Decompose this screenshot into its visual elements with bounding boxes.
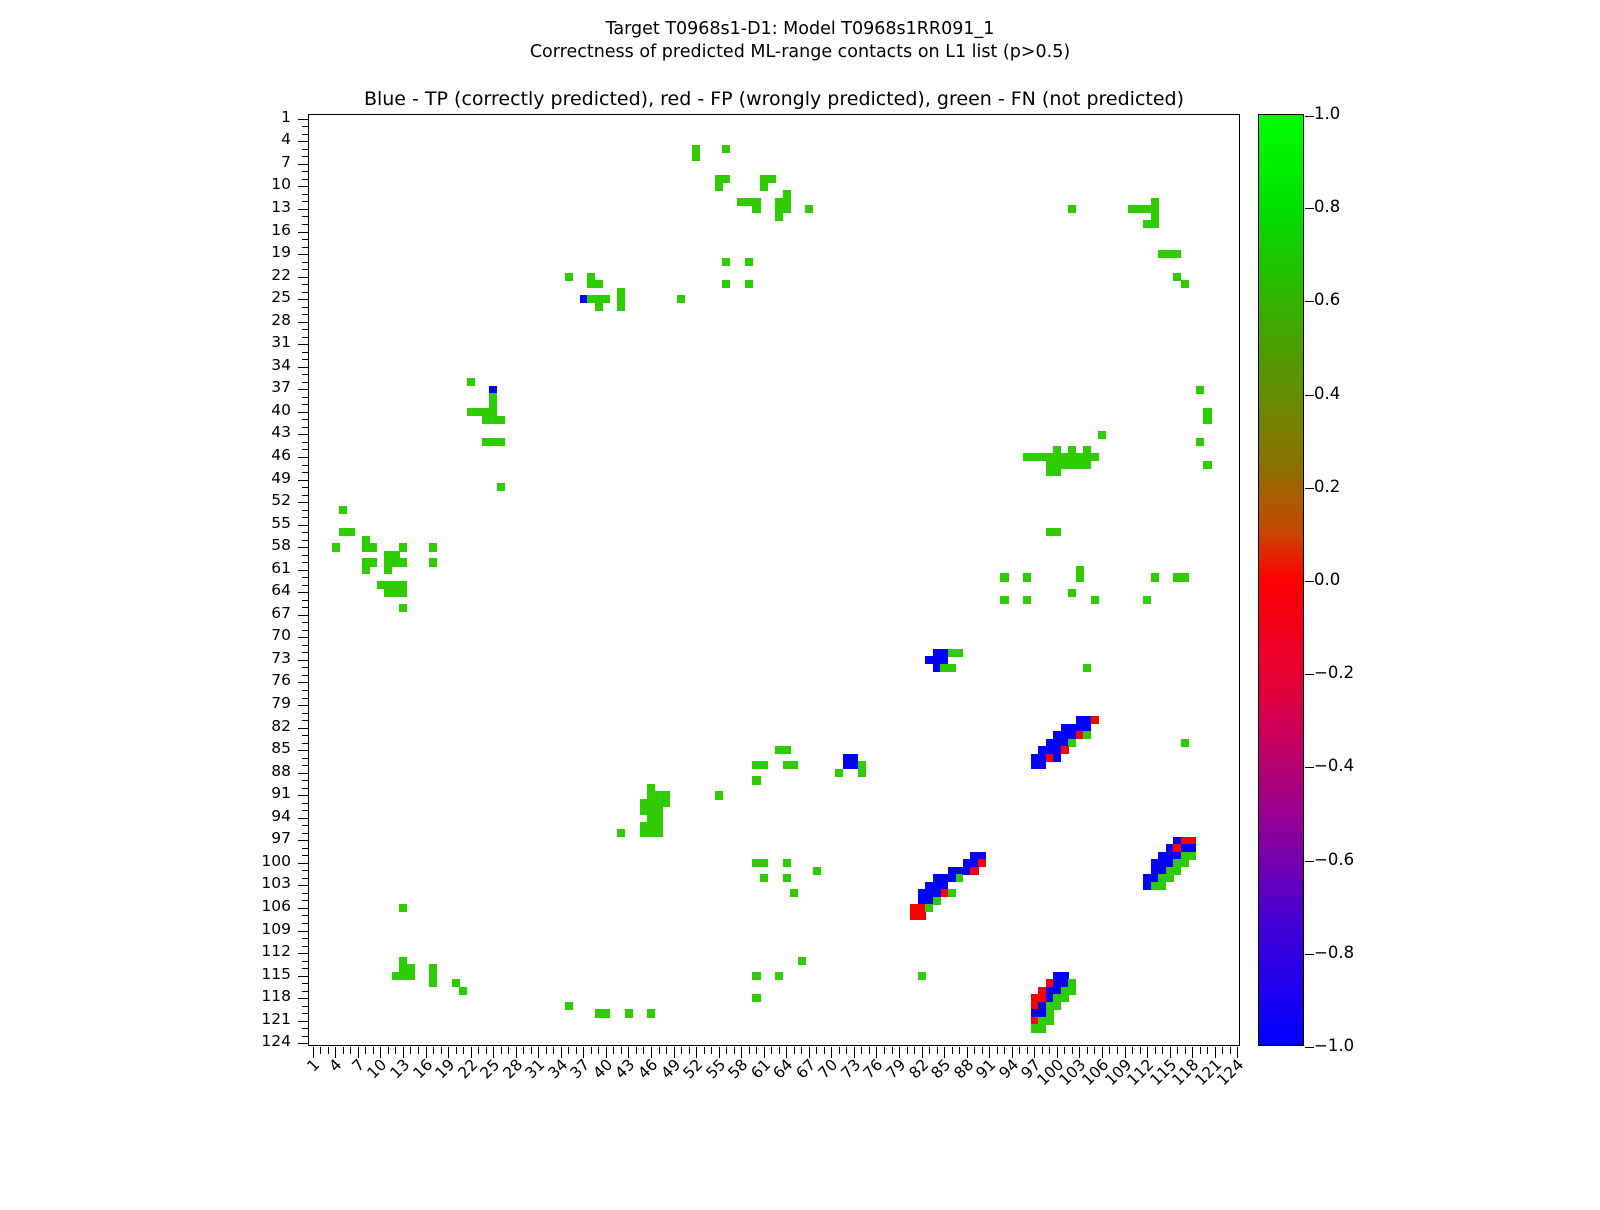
contact-cell-fn: [1143, 220, 1151, 228]
colorbar-label: 0.8: [1314, 199, 1340, 216]
x-axis-tick: [410, 1047, 411, 1054]
colorbar-tick: [1305, 954, 1314, 955]
colorbar-tick: [1305, 674, 1314, 675]
y-axis-tick: [302, 577, 309, 578]
x-axis-tick: [1079, 1047, 1080, 1058]
y-axis-label: 10: [271, 177, 291, 193]
y-axis-tick: [302, 938, 309, 939]
contact-cell-fn: [595, 280, 603, 288]
y-axis-label: 82: [271, 719, 291, 735]
y-axis-label: 79: [271, 696, 291, 712]
x-axis-tick: [388, 1047, 389, 1054]
x-axis-tick: [531, 1047, 532, 1054]
contact-cell-fn: [647, 1009, 655, 1017]
contact-cell-fn: [745, 258, 753, 266]
contact-cell-fn: [1151, 573, 1159, 581]
x-axis-tick: [1057, 1047, 1058, 1058]
x-axis-tick: [478, 1047, 479, 1054]
y-axis-tick: [298, 660, 309, 661]
x-axis-tick: [952, 1047, 953, 1054]
x-axis-tick: [508, 1047, 509, 1054]
y-axis-tick: [298, 750, 309, 751]
colorbar-label: −1.0: [1314, 1038, 1354, 1055]
x-axis-tick: [418, 1047, 419, 1054]
contact-cell-fn: [783, 859, 791, 867]
y-axis-label: 109: [261, 922, 291, 938]
x-axis-tick: [734, 1047, 735, 1054]
x-axis-tick: [448, 1047, 449, 1058]
contact-cell-fn: [467, 378, 475, 386]
contact-cell-fn: [1091, 596, 1099, 604]
contact-cell-fn: [955, 874, 963, 882]
contact-cell-fn: [775, 972, 783, 980]
contact-cell-fn: [1151, 220, 1159, 228]
y-axis-tick: [302, 239, 309, 240]
contact-cell-fn: [1158, 882, 1166, 890]
contact-cell-fn: [1181, 859, 1189, 867]
colorbar-tick: [1305, 208, 1314, 209]
y-axis-tick: [298, 728, 309, 729]
x-axis-tick: [1185, 1047, 1186, 1054]
y-axis-tick: [302, 179, 309, 180]
x-axis-tick: [493, 1047, 494, 1058]
x-axis-tick: [1027, 1047, 1028, 1054]
x-axis-tick: [456, 1047, 457, 1054]
contact-cell-fn: [429, 979, 437, 987]
y-axis-label: 31: [271, 335, 291, 351]
contact-cell-tp: [1053, 754, 1061, 762]
x-axis-tick: [1094, 1047, 1095, 1054]
x-axis-tick: [1072, 1047, 1073, 1054]
contact-cell-fn: [783, 205, 791, 213]
y-axis-tick: [298, 299, 309, 300]
y-axis-label: 97: [271, 831, 291, 847]
y-axis-tick: [298, 367, 309, 368]
contact-map-plot[interactable]: [308, 114, 1240, 1046]
x-axis-tick: [869, 1047, 870, 1054]
x-axis-tick: [501, 1047, 502, 1054]
x-axis-tick: [613, 1047, 614, 1054]
contact-cell-fn: [752, 972, 760, 980]
contact-cell-fp: [918, 912, 926, 920]
y-axis-tick: [298, 277, 309, 278]
contact-cell-fn: [347, 528, 355, 536]
x-axis-tick: [749, 1047, 750, 1054]
x-axis-tick: [373, 1047, 374, 1054]
y-axis-tick: [302, 247, 309, 248]
y-axis-tick: [298, 502, 309, 503]
y-axis-tick: [298, 908, 309, 909]
y-axis-tick: [302, 374, 309, 375]
x-axis-tick: [463, 1047, 464, 1054]
colorbar-tick: [1305, 581, 1314, 582]
x-axis-tick: [1049, 1047, 1050, 1054]
x-axis-tick: [1222, 1047, 1223, 1054]
y-axis-tick: [302, 803, 309, 804]
x-axis-tick: [1087, 1047, 1088, 1054]
y-axis-label: 4: [281, 132, 291, 148]
contact-cell-fn: [1083, 731, 1091, 739]
colorbar-label: −0.8: [1314, 945, 1354, 962]
contact-cell-fn: [407, 972, 415, 980]
contact-cell-fn: [715, 183, 723, 191]
colorbar-label: 1.0: [1314, 106, 1340, 123]
y-axis-tick: [298, 164, 309, 165]
contact-cell-fn: [955, 649, 963, 657]
contact-cell-fn: [948, 664, 956, 672]
x-axis-tick: [801, 1047, 802, 1054]
y-axis-tick: [298, 773, 309, 774]
contact-cell-fn: [399, 558, 407, 566]
y-axis-tick: [302, 329, 309, 330]
x-axis-tick: [365, 1047, 366, 1054]
y-axis-tick: [302, 495, 309, 496]
contact-cell-fn: [1083, 461, 1091, 469]
y-axis-tick: [302, 690, 309, 691]
contact-cell-fp: [970, 867, 978, 875]
contact-cell-fn: [369, 558, 377, 566]
colorbar-gradient: [1258, 114, 1304, 1046]
x-axis-tick: [358, 1047, 359, 1058]
x-axis-tick: [989, 1047, 990, 1058]
y-axis-label: 52: [271, 493, 291, 509]
contact-cell-fn: [752, 776, 760, 784]
x-axis-tick: [771, 1047, 772, 1054]
x-axis-tick: [711, 1047, 712, 1054]
x-axis-tick: [380, 1047, 381, 1058]
x-axis-tick: [696, 1047, 697, 1058]
colorbar-label: −0.6: [1314, 852, 1354, 869]
y-axis-tick: [298, 141, 309, 142]
x-axis-tick: [1004, 1047, 1005, 1054]
x-axis-tick: [1102, 1047, 1103, 1058]
contact-cell-fn: [783, 190, 791, 198]
x-axis-tick: [929, 1047, 930, 1054]
y-axis-tick: [302, 645, 309, 646]
contact-cell-fn: [1098, 431, 1106, 439]
y-axis-label: 61: [271, 561, 291, 577]
x-axis-tick: [786, 1047, 787, 1058]
y-axis-tick: [302, 607, 309, 608]
y-axis-tick: [302, 698, 309, 699]
x-axis-tick: [516, 1047, 517, 1058]
x-axis-tick: [659, 1047, 660, 1054]
x-axis-tick: [764, 1047, 765, 1058]
y-axis-tick: [302, 743, 309, 744]
contact-cell-fn: [722, 258, 730, 266]
x-axis-tick: [809, 1047, 810, 1058]
x-axis-tick: [486, 1047, 487, 1054]
contact-cell-fn: [1091, 453, 1099, 461]
x-axis-tick: [1012, 1047, 1013, 1058]
y-axis-label: 13: [271, 200, 291, 216]
contact-cell-fn: [767, 175, 775, 183]
contact-cell-fn: [1068, 446, 1076, 454]
y-axis-tick: [302, 788, 309, 789]
contact-cell-fn: [369, 543, 377, 551]
x-axis-tick: [538, 1047, 539, 1058]
x-axis-tick: [839, 1047, 840, 1054]
y-axis-label: 115: [261, 967, 291, 983]
y-axis-label: 85: [271, 741, 291, 757]
y-axis-tick: [302, 352, 309, 353]
y-axis-tick: [302, 1028, 309, 1029]
x-axis-tick: [651, 1047, 652, 1058]
contact-cell-fn: [459, 987, 467, 995]
contact-cell-fn: [835, 769, 843, 777]
y-axis-tick: [302, 878, 309, 879]
contact-cell-fn: [783, 746, 791, 754]
x-axis-tick: [636, 1047, 637, 1054]
y-axis-label: 103: [261, 876, 291, 892]
y-axis-tick: [302, 427, 309, 428]
x-axis-tick: [1117, 1047, 1118, 1054]
x-axis-tick: [426, 1047, 427, 1058]
contact-cell-fn: [429, 543, 437, 551]
y-axis-tick: [302, 652, 309, 653]
contact-cell-tp: [948, 874, 956, 882]
contact-cell-fn: [565, 273, 573, 281]
colorbar-label: 0.0: [1314, 572, 1340, 589]
y-axis-label: 76: [271, 673, 291, 689]
y-axis-tick: [298, 976, 309, 977]
x-axis-tick: [831, 1047, 832, 1058]
figure-title-line-1: Target T0968s1-D1: Model T0968s1RR091_1: [0, 18, 1600, 41]
contact-cell-fn: [722, 175, 730, 183]
x-axis-tick: [884, 1047, 885, 1054]
x-axis-tick: [1162, 1047, 1163, 1054]
contact-cell-fn: [1000, 573, 1008, 581]
x-axis-tick: [704, 1047, 705, 1054]
y-axis-tick: [302, 337, 309, 338]
contact-cell-fn: [805, 205, 813, 213]
y-axis-tick: [302, 284, 309, 285]
y-axis-tick: [298, 795, 309, 796]
y-axis-tick: [302, 923, 309, 924]
contact-cell-fn: [858, 769, 866, 777]
contact-cell-fp: [978, 859, 986, 867]
y-axis-label: 16: [271, 223, 291, 239]
colorbar-tick: [1305, 488, 1314, 489]
y-axis-tick: [302, 397, 309, 398]
y-axis-label: 118: [261, 989, 291, 1005]
y-axis-label: 100: [261, 854, 291, 870]
y-axis-tick: [302, 562, 309, 563]
contact-cell-fn: [1068, 739, 1076, 747]
x-axis-tick: [1207, 1047, 1208, 1054]
contact-cell-fn: [497, 416, 505, 424]
contact-cell-fn: [925, 904, 933, 912]
x-axis-tick: [741, 1047, 742, 1058]
x-axis-tick: [1147, 1047, 1148, 1058]
y-axis-tick: [302, 216, 309, 217]
colorbar-label: 0.6: [1314, 292, 1340, 309]
y-axis-tick: [302, 269, 309, 270]
x-axis-tick: [681, 1047, 682, 1054]
contact-cell-fn: [1023, 596, 1031, 604]
y-axis-tick: [298, 434, 309, 435]
y-axis-tick: [298, 209, 309, 210]
y-axis-tick: [298, 885, 309, 886]
contact-cell-fn: [399, 589, 407, 597]
x-axis-tick: [621, 1047, 622, 1054]
y-axis-tick: [302, 224, 309, 225]
x-axis-tick: [1064, 1047, 1065, 1054]
x-axis-tick: [914, 1047, 915, 1054]
y-axis-tick: [302, 465, 309, 466]
y-axis-tick: [298, 344, 309, 345]
contact-cell-fn: [933, 897, 941, 905]
y-axis-tick: [302, 442, 309, 443]
y-axis-tick: [298, 615, 309, 616]
y-axis-tick: [302, 825, 309, 826]
x-axis-tick: [546, 1047, 547, 1054]
y-axis-tick: [302, 126, 309, 127]
y-axis-tick: [302, 893, 309, 894]
contact-cell-fn: [722, 280, 730, 288]
contact-cell-fn: [760, 761, 768, 769]
y-axis-tick: [302, 1006, 309, 1007]
figure-title: Target T0968s1-D1: Model T0968s1RR091_1 …: [0, 18, 1600, 64]
contact-cell-fn: [1038, 1024, 1046, 1032]
contact-cell-fn: [332, 543, 340, 551]
x-axis-tick: [628, 1047, 629, 1058]
y-axis-label: 106: [261, 899, 291, 915]
contact-cell-fn: [775, 213, 783, 221]
y-axis-tick: [298, 637, 309, 638]
y-axis-tick: [302, 900, 309, 901]
y-axis-label: 49: [271, 471, 291, 487]
x-axis-tick: [1192, 1047, 1193, 1058]
contact-cell-fn: [1076, 573, 1084, 581]
contact-cell-fn: [1053, 468, 1061, 476]
y-axis-tick: [298, 592, 309, 593]
y-axis-tick: [298, 119, 309, 120]
x-axis-tick: [643, 1047, 644, 1054]
contact-cell-fn: [790, 761, 798, 769]
y-axis-tick: [302, 765, 309, 766]
contact-cell-fn: [1181, 573, 1189, 581]
x-axis-tick: [553, 1047, 554, 1054]
colorbar-label: −0.2: [1314, 665, 1354, 682]
y-axis-tick: [302, 810, 309, 811]
y-axis-tick: [302, 855, 309, 856]
figure-canvas: Target T0968s1-D1: Model T0968s1RR091_1 …: [0, 0, 1600, 1200]
contact-cell-fn: [1061, 994, 1069, 1002]
y-axis-tick: [302, 870, 309, 871]
y-axis-tick: [298, 998, 309, 999]
contact-cell-fn: [1188, 852, 1196, 860]
y-axis-tick: [302, 833, 309, 834]
contact-cell-fn: [1068, 589, 1076, 597]
y-axis-tick: [302, 532, 309, 533]
x-axis-tick: [1155, 1047, 1156, 1054]
y-axis-tick: [298, 570, 309, 571]
contact-cell-fn: [617, 829, 625, 837]
y-axis-label: 112: [261, 944, 291, 960]
x-axis-tick: [591, 1047, 592, 1054]
y-axis-tick: [298, 480, 309, 481]
y-axis-label: 64: [271, 583, 291, 599]
x-axis-tick: [861, 1047, 862, 1054]
y-axis-tick: [302, 1013, 309, 1014]
y-axis-tick: [302, 983, 309, 984]
x-axis-tick: [1042, 1047, 1043, 1054]
y-axis-tick: [302, 487, 309, 488]
y-axis-tick: [302, 194, 309, 195]
y-axis-label: 40: [271, 403, 291, 419]
x-axis-tick: [568, 1047, 569, 1054]
y-axis-tick: [302, 540, 309, 541]
y-axis-tick: [302, 600, 309, 601]
contact-cell-fn: [399, 543, 407, 551]
colorbar-tick: [1305, 861, 1314, 862]
contact-cell-fn: [1203, 416, 1211, 424]
contact-cell-fn: [715, 791, 723, 799]
y-axis-label: 73: [271, 651, 291, 667]
y-axis-tick: [302, 720, 309, 721]
x-axis-tick: [328, 1047, 329, 1054]
y-axis-tick: [302, 1036, 309, 1037]
figure-title-line-2: Correctness of predicted ML-range contac…: [0, 41, 1600, 64]
contact-cell-fn: [1053, 528, 1061, 536]
contact-cell-fp: [1091, 716, 1099, 724]
y-axis-tick: [298, 232, 309, 233]
y-axis-tick: [298, 931, 309, 932]
contact-cell-fn: [752, 994, 760, 1002]
x-axis-tick: [899, 1047, 900, 1058]
y-axis-tick: [302, 968, 309, 969]
x-axis-tick: [1140, 1047, 1141, 1054]
y-axis-label: 67: [271, 606, 291, 622]
y-axis-label: 25: [271, 290, 291, 306]
y-axis-label: 19: [271, 245, 291, 261]
contact-cell-fn: [655, 829, 663, 837]
contact-cell-fn: [497, 438, 505, 446]
y-axis-label: 70: [271, 628, 291, 644]
contact-cell-fn: [790, 889, 798, 897]
x-axis-tick: [395, 1047, 396, 1054]
y-axis-label: 121: [261, 1012, 291, 1028]
y-axis-tick: [302, 171, 309, 172]
contact-cell-fn: [1196, 386, 1204, 394]
x-axis-tick: [756, 1047, 757, 1054]
y-axis-tick: [302, 848, 309, 849]
y-axis-tick: [298, 705, 309, 706]
x-axis-tick: [974, 1047, 975, 1054]
y-axis-tick: [302, 292, 309, 293]
x-axis-tick: [313, 1047, 314, 1058]
y-axis-tick: [298, 525, 309, 526]
x-axis-tick: [1200, 1047, 1201, 1054]
y-axis-tick: [302, 314, 309, 315]
y-axis-tick: [302, 201, 309, 202]
y-axis-tick: [302, 915, 309, 916]
contact-cell-fn: [1173, 250, 1181, 258]
y-axis-tick: [298, 1021, 309, 1022]
x-axis-tick: [606, 1047, 607, 1058]
x-axis-tick: [997, 1047, 998, 1054]
contact-cell-fn: [339, 506, 347, 514]
contact-cell-fn: [1068, 205, 1076, 213]
y-axis-label: 1: [281, 110, 291, 126]
x-axis-tick: [320, 1047, 321, 1054]
x-axis-tick: [433, 1047, 434, 1054]
y-axis-tick: [302, 419, 309, 420]
contact-cell-fn: [1053, 1002, 1061, 1010]
x-axis-tick: [1230, 1047, 1231, 1054]
contact-cell-fn: [1173, 867, 1181, 875]
